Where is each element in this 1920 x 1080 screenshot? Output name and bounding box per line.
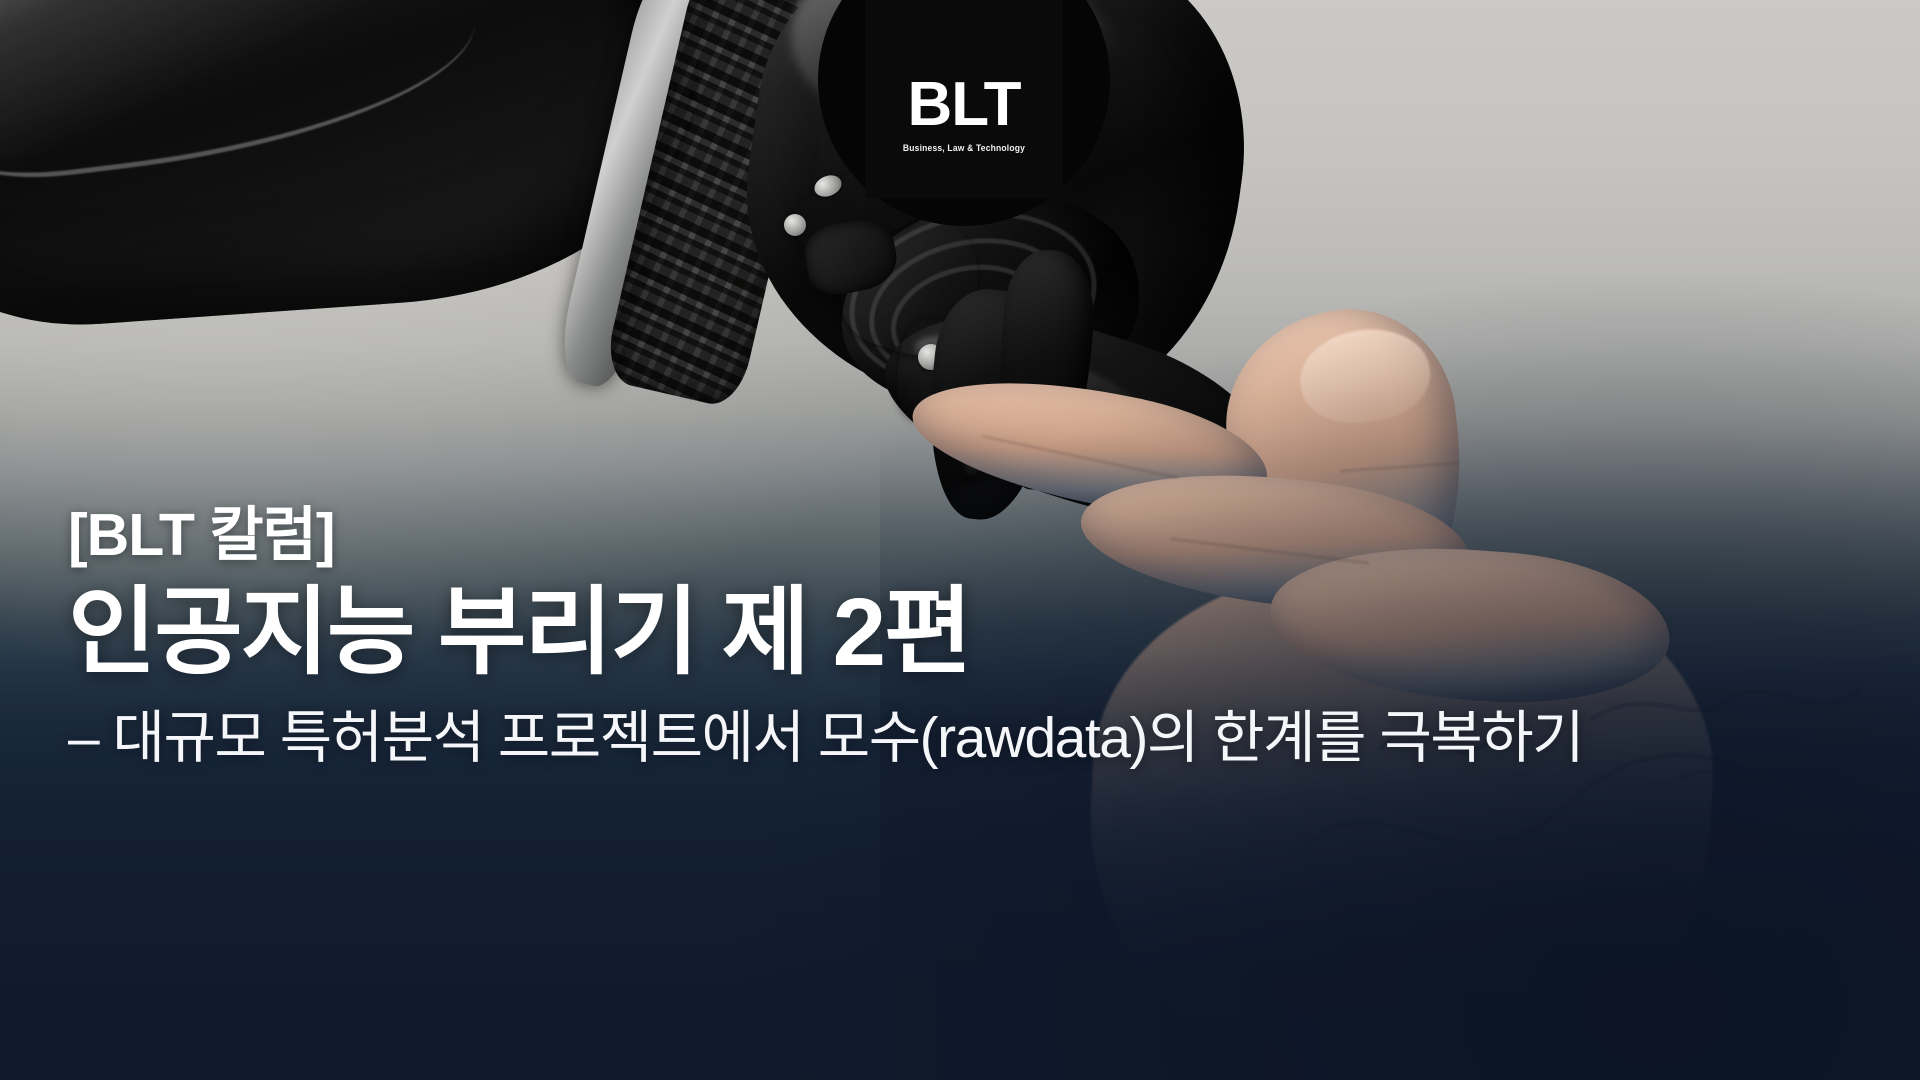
blt-tagline: Business, Law & Technology (903, 142, 1025, 153)
blt-wordmark: BLT (908, 74, 1021, 136)
hero-subheadline: – 대규모 특허분석 프로젝트에서 모수(rawdata)의 한계를 극복하기 (68, 707, 1868, 771)
blt-logo-content: BLT Business, Law & Technology (865, 0, 1063, 198)
hero-banner: BLT Business, Law & Technology [BLT 칼럼] … (0, 0, 1920, 1080)
hero-kicker: [BLT 칼럼] (68, 505, 1868, 567)
gripper-screw (784, 214, 806, 236)
hero-text-block: [BLT 칼럼] 인공지능 부리기 제 2편 – 대규모 특허분석 프로젝트에서… (68, 505, 1868, 770)
hero-headline: 인공지능 부리기 제 2편 (68, 581, 1868, 685)
